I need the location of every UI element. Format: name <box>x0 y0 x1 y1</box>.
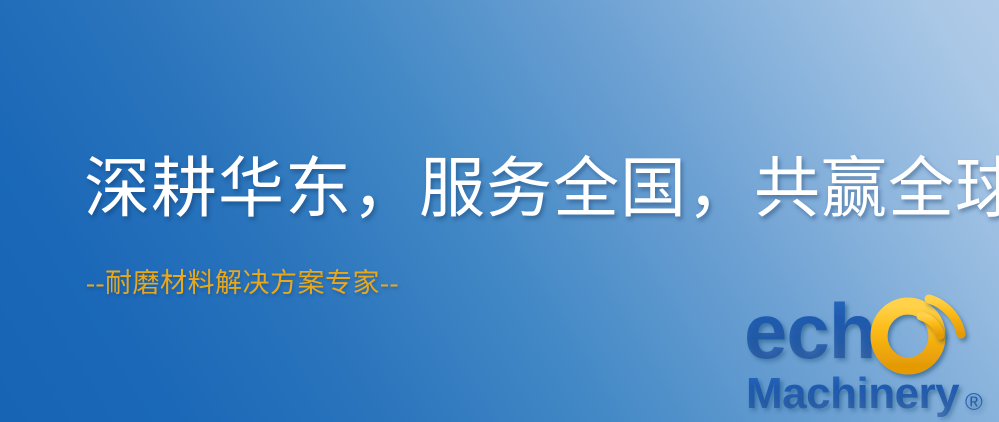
page-title: 深耕华东，服务全国，共赢全球 <box>84 150 944 230</box>
hero-banner: 深耕华东，服务全国，共赢全球 --耐磨材料解决方案专家-- <box>0 0 999 422</box>
svg-text:®: ® <box>965 389 983 416</box>
echo-machinery-logo-graphic: ech Machinery ® <box>744 292 999 422</box>
logo-wordmark-ech-glyphs: ech <box>744 292 875 375</box>
page-subtitle: --耐磨材料解决方案专家-- <box>86 266 399 300</box>
logo-tagline-glyphs: Machinery ® <box>746 369 983 418</box>
svg-text:Machinery: Machinery <box>746 369 960 418</box>
company-logo[interactable]: ech Machinery ® <box>744 292 999 422</box>
svg-text:ech: ech <box>744 292 875 375</box>
